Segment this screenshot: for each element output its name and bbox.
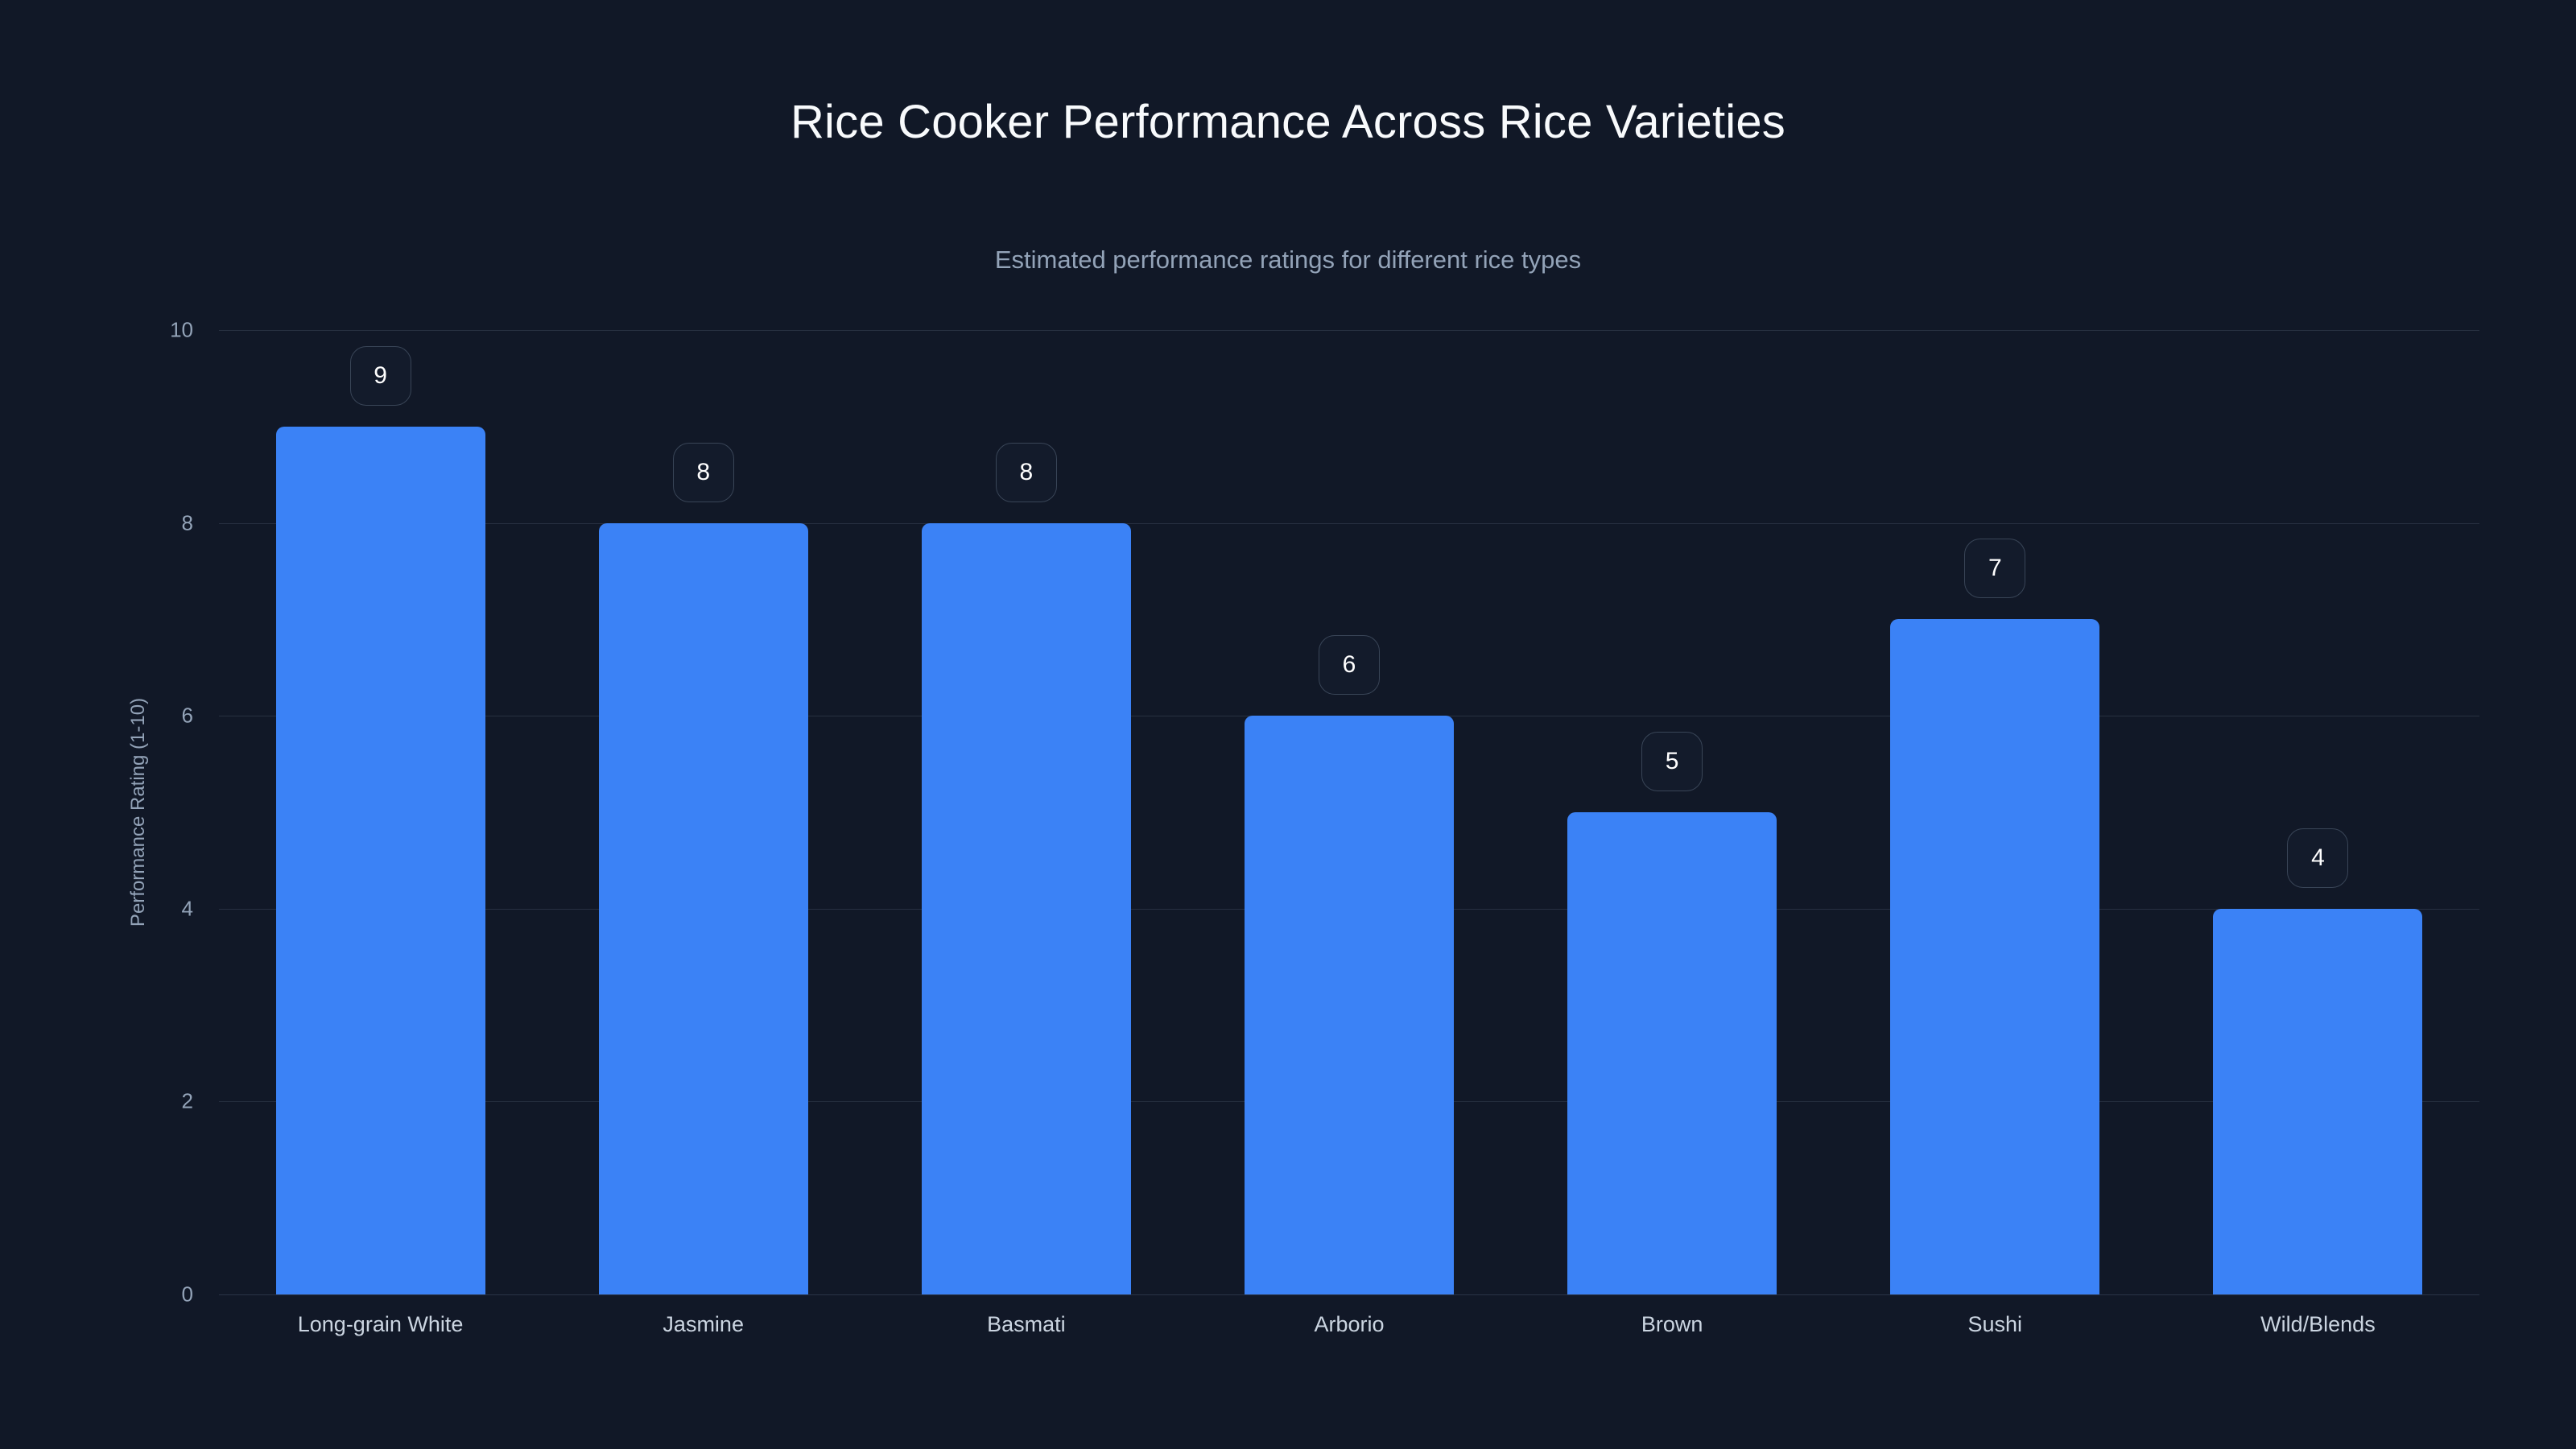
bar[interactable] <box>1890 619 2099 1294</box>
chart-subtitle: Estimated performance ratings for differ… <box>0 246 2576 275</box>
x-tick-label: Wild/Blends <box>2260 1312 2376 1337</box>
bar[interactable] <box>922 523 1131 1294</box>
y-tick-label: 8 <box>0 510 193 535</box>
chart-title: Rice Cooker Performance Across Rice Vari… <box>0 95 2576 149</box>
x-tick-label: Brown <box>1641 1312 1703 1337</box>
bar-value-badge: 9 <box>350 346 411 406</box>
bar[interactable] <box>1567 812 1777 1294</box>
bar[interactable] <box>599 523 808 1294</box>
y-tick-label: 2 <box>0 1089 193 1114</box>
bar[interactable] <box>276 427 485 1294</box>
y-tick-label: 6 <box>0 704 193 729</box>
x-tick-label: Jasmine <box>663 1312 744 1337</box>
bar-value-badge: 7 <box>1964 539 2025 598</box>
gridline <box>219 1294 2479 1295</box>
y-tick-label: 4 <box>0 896 193 921</box>
gridline <box>219 330 2479 331</box>
y-tick-label: 0 <box>0 1282 193 1307</box>
bar[interactable] <box>1245 716 1454 1294</box>
x-tick-label: Long-grain White <box>298 1312 464 1337</box>
x-tick-label: Arborio <box>1314 1312 1384 1337</box>
bar-value-badge: 6 <box>1319 635 1380 695</box>
bar-value-badge: 4 <box>2287 828 2348 888</box>
y-axis-tick-labels: 0246810 <box>0 330 193 1294</box>
x-tick-label: Basmati <box>987 1312 1066 1337</box>
x-tick-label: Sushi <box>1968 1312 2023 1337</box>
bar-chart: Rice Cooker Performance Across Rice Vari… <box>0 0 2576 1449</box>
bar-value-badge: 8 <box>996 443 1057 502</box>
bar-value-badge: 5 <box>1641 732 1703 791</box>
bar[interactable] <box>2213 909 2422 1294</box>
gridline <box>219 523 2479 524</box>
x-axis-tick-labels: Long-grain WhiteJasmineBasmatiArborioBro… <box>219 1312 2479 1360</box>
plot-area: 9886574 <box>219 330 2479 1294</box>
y-tick-label: 10 <box>0 318 193 343</box>
bar-value-badge: 8 <box>673 443 734 502</box>
